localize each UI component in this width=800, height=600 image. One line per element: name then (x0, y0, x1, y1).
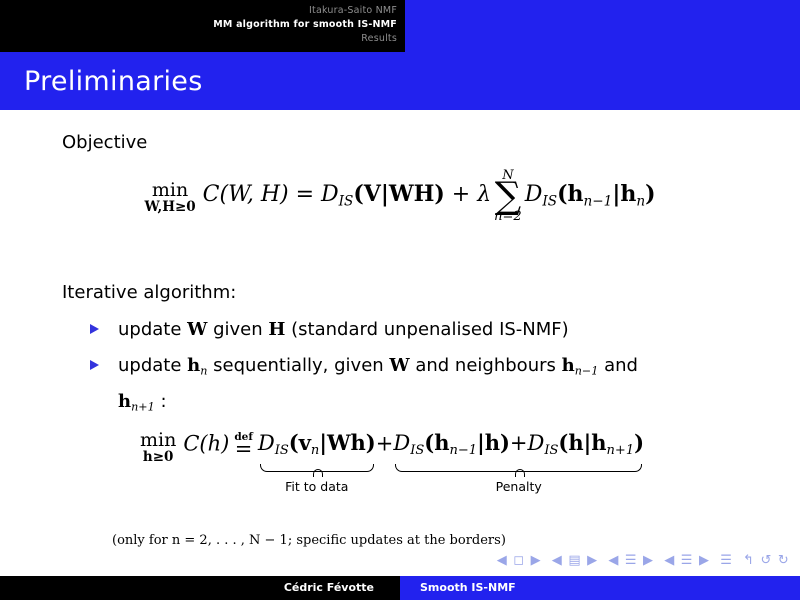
divergence-fit-arguments: (V|WH) (353, 181, 444, 207)
triangle-bullet-icon (90, 360, 99, 370)
bullet-2-sub-n-plus-1: n+1 (131, 400, 155, 413)
penalty-group: DIS(hn−1|h)+DIS(h|hn+1)Penalty (393, 430, 644, 458)
cost-function-h-symbol: C(h) (183, 431, 229, 455)
fit-arg-open: (v (289, 430, 311, 455)
nav-frame-controls-icon[interactable]: ◀ ▤ ▶ (552, 553, 599, 568)
nav-section-mm-algorithm[interactable]: MM algorithm for smooth IS-NMF (0, 18, 397, 32)
bullet-1-matrix-h: H (268, 319, 285, 340)
min-constraint-label: W,H≥0 (144, 201, 195, 215)
plus-sign-update-1: + (376, 431, 394, 455)
underbrace-penalty-icon (395, 464, 642, 473)
bullet-2-text-3: and neighbours (410, 355, 562, 376)
fit-arg-rest: |Wh) (319, 430, 375, 455)
lambda-symbol: λ (477, 182, 491, 207)
underbrace-fit-icon (260, 464, 374, 473)
bullet-2-vector-h-next: h (118, 391, 131, 412)
penalty-arg-close: ) (645, 181, 655, 207)
header-section-nav: Itakura-Saito NMF MM algorithm for smoot… (0, 0, 405, 52)
page-title: Preliminaries (24, 66, 203, 97)
divergence-fit-subscript: IS (339, 193, 354, 209)
footer-bar: Cédric Févotte Smooth IS-NMF (0, 576, 800, 600)
penalty-arg-bar: |h (612, 181, 636, 207)
nav-back-forward-icon[interactable]: ↰ ↺ ↻ (743, 553, 790, 568)
penalty-caption: Penalty (393, 479, 644, 494)
fit-to-data-group: DIS(vn|Wh)Fit to data (258, 430, 376, 458)
bullet-2-text-4: and (598, 355, 638, 376)
slide-body: Objective min W,H≥0 C(W, H) = DIS(V|WH) … (0, 110, 800, 550)
def-equals-operator: def = (234, 432, 253, 460)
penalty-arg2-subscript: n (636, 193, 645, 209)
fit-divergence-symbol: D (258, 431, 275, 455)
penalty-term2-symbol: D (528, 431, 545, 455)
penalty-term1-subscript: IS (410, 443, 424, 458)
min-op-label: min (144, 181, 195, 200)
nav-slide-controls-icon[interactable]: ◀ ◻ ▶ (497, 553, 542, 568)
triangle-bullet-icon (90, 324, 99, 334)
divergence-fit-symbol: D (321, 182, 339, 207)
objective-label: Objective (62, 132, 147, 153)
penalty-term1-open: (h (424, 430, 449, 455)
equation-footnote: (only for n = 2, . . . , N − 1; specific… (112, 533, 506, 548)
bullet-1-text-3: (standard unpenalised IS-NMF) (285, 319, 568, 340)
bullet-2-vector-h: h (187, 355, 200, 376)
nav-presentation-icon[interactable]: ☰ (720, 553, 733, 568)
bullet-2-sub-n-minus-1: n−1 (575, 365, 599, 378)
header-bar: Itakura-Saito NMF MM algorithm for smoot… (0, 0, 800, 52)
iterative-algorithm-label: Iterative algorithm: (62, 282, 236, 303)
fit-divergence-subscript: IS (275, 443, 289, 458)
objective-equation: min W,H≥0 C(W, H) = DIS(V|WH) + λ N ∑ n=… (0, 168, 800, 222)
bullet-2-matrix-w: W (389, 355, 409, 376)
equals-sign: = (296, 182, 314, 207)
sigma-icon: ∑ (494, 179, 522, 213)
penalty-arg1-subscript: n−1 (583, 193, 612, 209)
bullet-1-text-1: update (118, 319, 187, 340)
footer-author: Cédric Févotte (0, 576, 400, 600)
penalty-term1-symbol: D (393, 431, 410, 455)
bullet-2-line2-tail: : (155, 391, 167, 412)
summation-operator: N ∑ n=2 (494, 169, 522, 223)
penalty-term2-arg-subscript: n+1 (607, 443, 635, 458)
bullet-2-vector-h-prev: h (562, 355, 575, 376)
cost-function-symbol: C(W, H) (203, 182, 289, 207)
fit-to-data-expression: DIS(vn|Wh) (258, 430, 376, 458)
min-operator-update: min h≥0 (140, 431, 176, 465)
penalty-term1-arg-subscript: n−1 (449, 443, 477, 458)
penalty-arg-open: (h (557, 181, 583, 207)
min-op-update-label: min (140, 431, 176, 450)
min-operator-main: min W,H≥0 (144, 181, 195, 215)
update-equation: min h≥0 C(h) def = DIS(vn|Wh)Fit to data… (140, 428, 644, 462)
nav-section-results[interactable]: Results (0, 32, 397, 46)
bullet-1-text-2: given (207, 319, 268, 340)
bullet-1-matrix-w: W (187, 319, 207, 340)
list-item: update W given H (standard unpenalised I… (90, 315, 730, 345)
nav-subsection-controls-icon[interactable]: ◀ ☰ ▶ (608, 553, 654, 568)
min-constraint-update-label: h≥0 (140, 451, 176, 465)
plus-sign-update-2: + (510, 431, 528, 455)
nav-section-itakura-saito-nmf[interactable]: Itakura-Saito NMF (0, 4, 397, 18)
algorithm-step-list: update W given H (standard unpenalised I… (90, 315, 730, 428)
penalty-term2-subscript: IS (544, 443, 558, 458)
penalty-term1-rest: |h) (477, 430, 510, 455)
bullet-2-text-2: sequentially, given (207, 355, 389, 376)
title-bar: Preliminaries (0, 52, 800, 110)
bullet-2-text-1: update (118, 355, 187, 376)
sum-lower-limit: n=2 (494, 210, 522, 223)
def-equals-sign: = (234, 439, 253, 460)
nav-section-controls-icon[interactable]: ◀ ☰ ▶ (664, 553, 710, 568)
divergence-penalty-subscript: IS (542, 193, 557, 209)
footer-subject: Smooth IS-NMF (400, 576, 800, 600)
beamer-navigation-symbols: ◀ ◻ ▶◀ ▤ ▶◀ ☰ ▶◀ ☰ ▶☰↰ ↺ ↻ (497, 552, 790, 570)
bullet-2-line-2: hn+1 : (118, 387, 730, 423)
list-item: update hn sequentially, given W and neig… (90, 351, 730, 422)
penalty-expression: DIS(hn−1|h)+DIS(h|hn+1) (393, 430, 644, 458)
divergence-penalty-symbol: D (525, 182, 543, 207)
penalty-term2-close: ) (634, 430, 644, 455)
plus-sign-main: + (452, 182, 470, 207)
penalty-term2-open: (h|h (558, 430, 606, 455)
fit-to-data-caption: Fit to data (258, 479, 376, 494)
